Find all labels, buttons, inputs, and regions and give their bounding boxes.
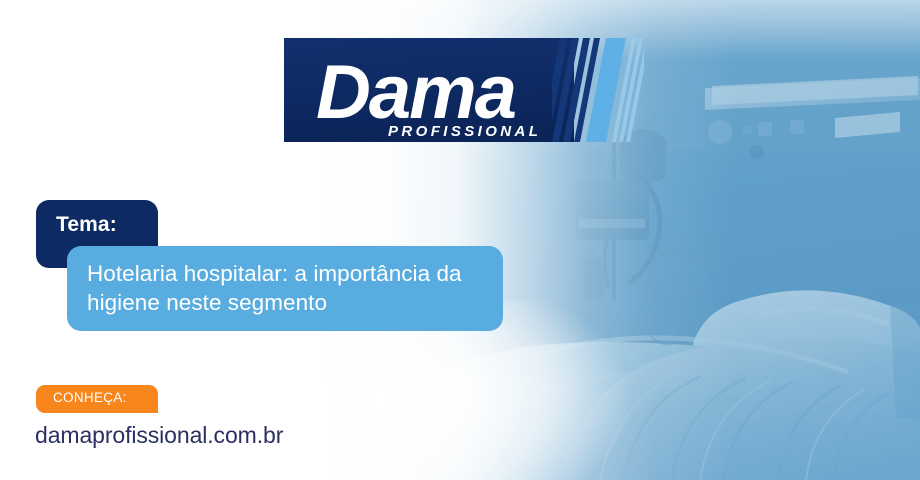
dama-logo: Dama PROFISSIONAL — [284, 38, 644, 142]
cta-label-text: CONHEÇA: — [53, 391, 127, 405]
logo-tagline: PROFISSIONAL — [388, 123, 541, 140]
headline-text: Hotelaria hospitalar: a importância da h… — [87, 259, 487, 317]
headline-bubble: Hotelaria hospitalar: a importância da h… — [67, 246, 503, 331]
topic-label-text: Tema: — [56, 214, 117, 235]
website-url[interactable]: damaprofissional.com.br — [35, 424, 283, 447]
cta-badge: CONHEÇA: — [36, 385, 158, 413]
post-canvas: Dama PROFISSIONAL Tema: Hotelaria hospit… — [0, 0, 920, 480]
